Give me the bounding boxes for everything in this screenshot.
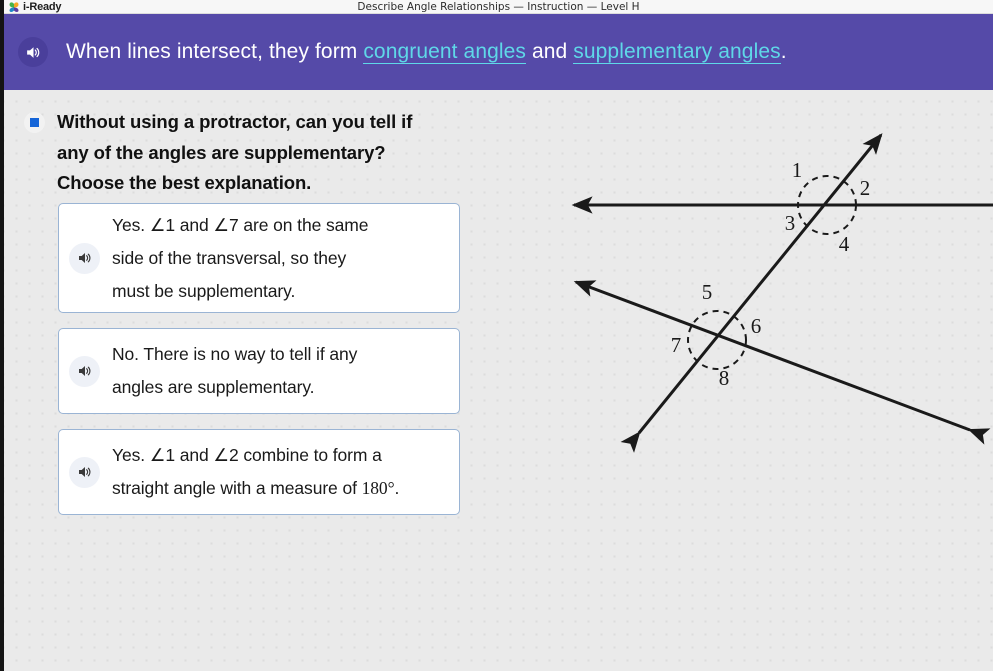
speaker-icon[interactable] xyxy=(69,356,100,387)
answer-option-2-text: No. There is no way to tell if any angle… xyxy=(112,338,357,404)
transversal-line xyxy=(639,135,881,433)
answer-option-2-line-1: No. There is no way to tell if any xyxy=(112,338,357,371)
angle-label-1: 1 xyxy=(792,158,803,182)
app-bar: i-Ready Describe Angle Relationships — I… xyxy=(4,0,993,14)
answer-option-1-line-2: side of the transversal, so they xyxy=(112,242,368,275)
angle-label-6: 6 xyxy=(751,314,762,338)
page-title: Describe Angle Relationships — Instructi… xyxy=(4,1,993,13)
instruction-banner: When lines intersect, they form congruen… xyxy=(4,14,993,90)
angle-circle-lower xyxy=(688,311,746,369)
angle-label-5: 5 xyxy=(702,280,713,304)
banner-text-part3: . xyxy=(781,40,787,63)
question-line-1: Without using a protractor, can you tell… xyxy=(57,107,412,138)
supplementary-angles-link[interactable]: supplementary angles xyxy=(573,40,780,64)
answer-option-1[interactable]: Yes. ∠1 and ∠7 are on the same side of t… xyxy=(58,203,460,313)
angle-label-4: 4 xyxy=(839,232,850,256)
answer-option-3-line-1: Yes. ∠1 and ∠2 combine to form a xyxy=(112,439,399,472)
speaker-icon[interactable] xyxy=(69,243,100,274)
banner-text: When lines intersect, they form congruen… xyxy=(66,40,787,64)
answer-option-1-line-3: must be supplementary. xyxy=(112,275,368,308)
banner-text-part1: When lines intersect, they form xyxy=(66,40,363,63)
question-line-2: any of the angles are supplementary? xyxy=(57,138,412,169)
angle-label-2: 2 xyxy=(860,176,871,200)
answer-option-2-line-2: angles are supplementary. xyxy=(112,371,357,404)
answer-option-1-text: Yes. ∠1 and ∠7 are on the same side of t… xyxy=(112,209,368,308)
question-prompt: Without using a protractor, can you tell… xyxy=(24,107,474,199)
angle-circle-upper xyxy=(798,176,856,234)
left-edge-strip xyxy=(0,0,4,671)
speaker-icon[interactable] xyxy=(18,37,48,67)
answer-option-3-line-2a: straight angle with a measure of xyxy=(112,478,362,498)
answer-option-2[interactable]: No. There is no way to tell if any angle… xyxy=(58,328,460,414)
congruent-angles-link[interactable]: congruent angles xyxy=(363,40,526,64)
speaker-icon[interactable] xyxy=(69,457,100,488)
angle-label-3: 3 xyxy=(785,211,796,235)
answer-option-1-line-1: Yes. ∠1 and ∠7 are on the same xyxy=(112,209,368,242)
line-lower xyxy=(576,282,970,430)
angle-label-7: 7 xyxy=(671,333,682,357)
answer-option-3-line-2: straight angle with a measure of 180°. xyxy=(112,472,399,505)
question-text: Without using a protractor, can you tell… xyxy=(57,107,412,199)
square-bullet-icon xyxy=(24,112,45,133)
question-line-3: Choose the best explanation. xyxy=(57,168,412,199)
answer-option-3-text: Yes. ∠1 and ∠2 combine to form a straigh… xyxy=(112,439,399,505)
banner-text-part2: and xyxy=(526,40,573,63)
answer-option-3-line-2c: . xyxy=(394,478,399,498)
answer-options: Yes. ∠1 and ∠7 are on the same side of t… xyxy=(58,203,460,530)
angle-label-8: 8 xyxy=(719,366,730,390)
answer-option-3-measure: 180° xyxy=(362,478,395,498)
content-area: Without using a protractor, can you tell… xyxy=(4,90,993,671)
answer-option-3[interactable]: Yes. ∠1 and ∠2 combine to form a straigh… xyxy=(58,429,460,515)
